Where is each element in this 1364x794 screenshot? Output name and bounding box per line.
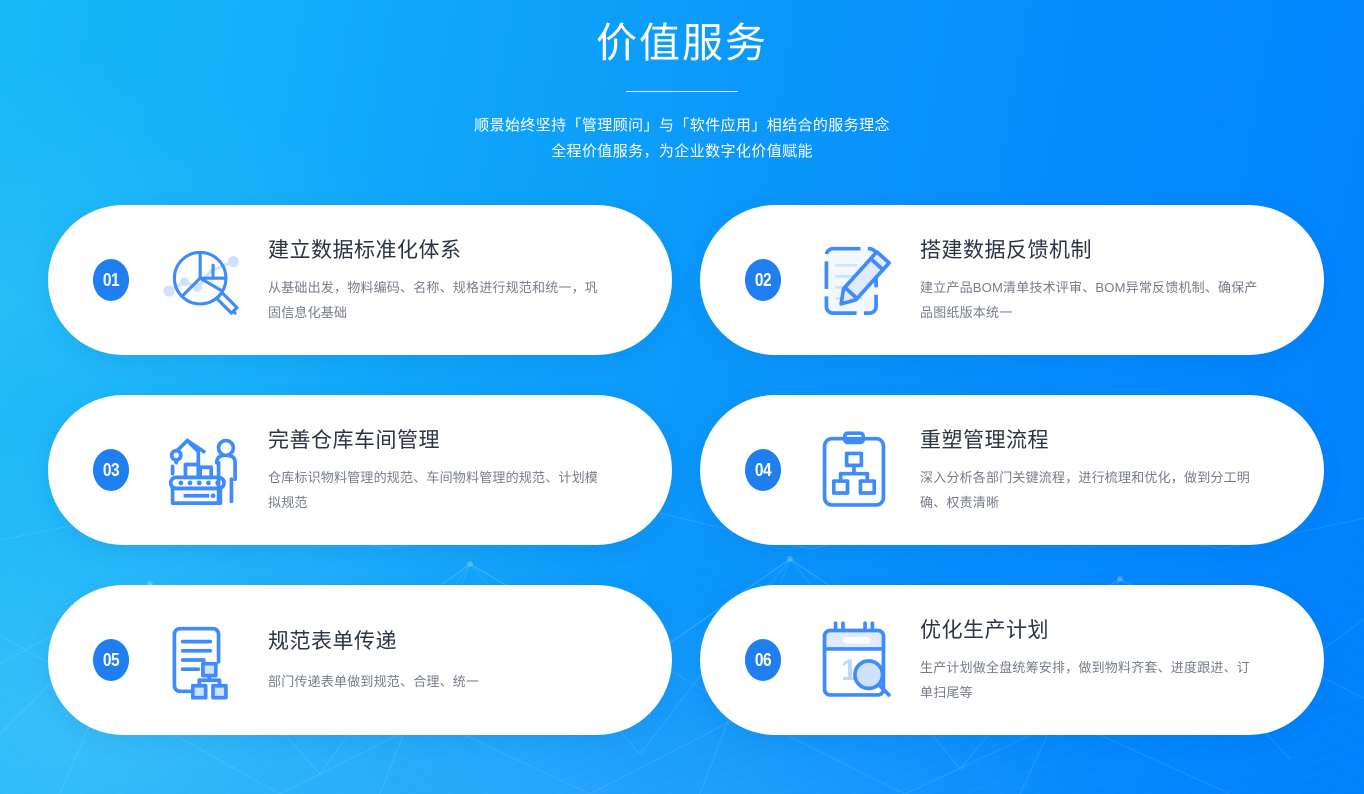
service-card[interactable]: 06 11 优化生产计划 生产计划做全盘统筹安排，做到物料齐套、进度跟进、订单扫… bbox=[700, 585, 1324, 735]
service-card-grid: 01 bbox=[0, 205, 1364, 735]
card-number-badge: 01 bbox=[93, 259, 129, 301]
clipboard-orgchart-icon bbox=[806, 422, 902, 518]
card-number-badge: 06 bbox=[745, 639, 781, 681]
subtitle-line-1: 顺景始终坚持「管理顾问」与「软件应用」相结合的服务理念 bbox=[0, 113, 1364, 139]
card-description: 深入分析各部门关键流程，进行梳理和优化，做到分工明确、权责清晰 bbox=[920, 465, 1260, 515]
card-text-block: 重塑管理流程 深入分析各部门关键流程，进行梳理和优化，做到分工明确、权责清晰 bbox=[920, 426, 1298, 515]
subtitle-line-2: 全程价值服务，为企业数字化价值赋能 bbox=[0, 139, 1364, 165]
title-divider bbox=[626, 91, 738, 92]
card-title: 搭建数据反馈机制 bbox=[920, 236, 1294, 266]
card-title: 完善仓库车间管理 bbox=[268, 426, 642, 456]
card-title: 建立数据标准化体系 bbox=[268, 236, 642, 266]
document-flowchart-icon bbox=[154, 612, 250, 708]
pie-chart-magnifier-icon bbox=[154, 232, 250, 328]
card-title: 优化生产计划 bbox=[920, 616, 1294, 646]
card-number-badge: 03 bbox=[93, 449, 129, 491]
card-number-badge: 02 bbox=[745, 259, 781, 301]
card-title: 重塑管理流程 bbox=[920, 426, 1294, 456]
card-text-block: 完善仓库车间管理 仓库标识物料管理的规范、车间物料管理的规范、计划模拟规范 bbox=[268, 426, 646, 515]
card-description: 仓库标识物料管理的规范、车间物料管理的规范、计划模拟规范 bbox=[268, 465, 608, 515]
page-subtitle: 顺景始终坚持「管理顾问」与「软件应用」相结合的服务理念 全程价值服务，为企业数字… bbox=[0, 113, 1364, 165]
card-text-block: 搭建数据反馈机制 建立产品BOM清单技术评审、BOM异常反馈机制、确保产品图纸版… bbox=[920, 236, 1298, 325]
card-text-block: 建立数据标准化体系 从基础出发，物料编码、名称、规格进行规范和统一，巩固信息化基… bbox=[268, 236, 646, 325]
card-text-block: 规范表单传递 部门传递表单做到规范、合理、统一 bbox=[268, 627, 646, 694]
card-number-badge: 05 bbox=[93, 639, 129, 681]
card-description: 部门传递表单做到规范、合理、统一 bbox=[268, 669, 608, 694]
service-card[interactable]: 02 搭建数据反馈机制 建立产品BOM清单技术评审、BOM异常反馈机制、确保产品… bbox=[700, 205, 1324, 355]
card-description: 从基础出发，物料编码、名称、规格进行规范和统一，巩固信息化基础 bbox=[268, 275, 608, 325]
card-text-block: 优化生产计划 生产计划做全盘统筹安排，做到物料齐套、进度跟进、订单扫尾等 bbox=[920, 616, 1298, 705]
card-description: 生产计划做全盘统筹安排，做到物料齐套、进度跟进、订单扫尾等 bbox=[920, 655, 1260, 705]
factory-worker-icon bbox=[154, 422, 250, 518]
card-number-badge: 04 bbox=[745, 449, 781, 491]
service-card[interactable]: 03 bbox=[48, 395, 672, 545]
page-header: 价值服务 顺景始终坚持「管理顾问」与「软件应用」相结合的服务理念 全程价值服务，… bbox=[0, 0, 1364, 165]
card-title: 规范表单传递 bbox=[268, 627, 642, 657]
card-description: 建立产品BOM清单技术评审、BOM异常反馈机制、确保产品图纸版本统一 bbox=[920, 275, 1260, 325]
service-card[interactable]: 05 bbox=[48, 585, 672, 735]
clipboard-pencil-icon bbox=[806, 232, 902, 328]
calendar-magnifier-icon: 11 bbox=[806, 612, 902, 708]
service-card[interactable]: 01 bbox=[48, 205, 672, 355]
page-title: 价值服务 bbox=[0, 14, 1364, 72]
service-card[interactable]: 04 重塑管理流程 深入分析各部门关键流程，进行 bbox=[700, 395, 1324, 545]
